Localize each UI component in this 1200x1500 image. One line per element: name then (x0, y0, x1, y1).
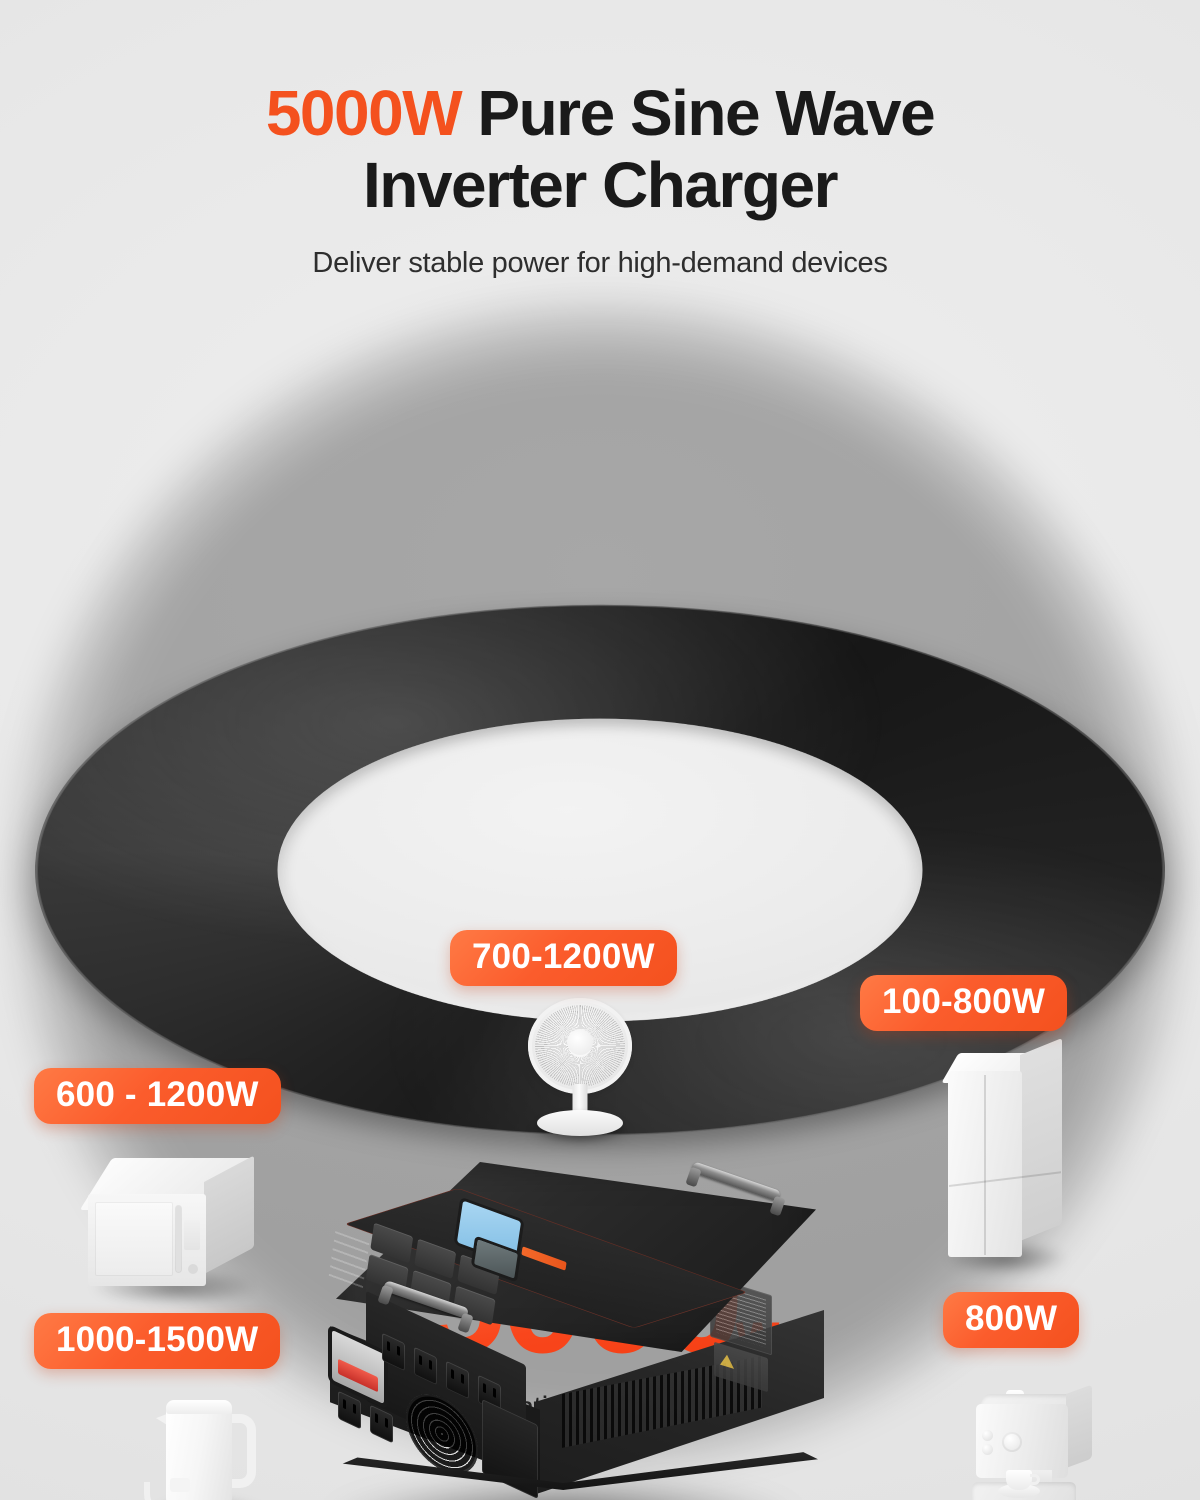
microwave-door (95, 1202, 173, 1276)
coffee-body (976, 1404, 1068, 1478)
badge-coffee-machine[interactable]: 800W (943, 1292, 1079, 1348)
appliance-pedestal-fan (520, 998, 640, 1138)
coffee-side-face (1066, 1385, 1092, 1468)
fan-base (537, 1110, 623, 1136)
page-title: 5000W Pure Sine Wave Inverter Charger (0, 78, 1200, 221)
coffee-knob-1 (982, 1430, 993, 1441)
badge-electric-kettle[interactable]: 1000-1500W (34, 1313, 280, 1369)
fan-hub (567, 1029, 593, 1055)
inverter-status-leds (329, 1231, 370, 1289)
appliance-coffee-machine (968, 1386, 1100, 1500)
microwave-door-handle (176, 1206, 181, 1272)
product-infographic: 5000W Pure Sine Wave Inverter Charger De… (0, 0, 1200, 1500)
handle-mount-right-a (685, 1167, 701, 1188)
appliance-electric-kettle (152, 1398, 264, 1500)
badge-refrigerator[interactable]: 100-800W (860, 975, 1067, 1031)
appliance-refrigerator (948, 1053, 1064, 1265)
kettle-plug (170, 1478, 190, 1492)
header: 5000W Pure Sine Wave Inverter Charger De… (0, 0, 1200, 280)
product-inverter-charger (310, 1160, 830, 1500)
product-stage: 700-1200W 100-800W 600 - 1200W 1000-1500… (0, 520, 1200, 1220)
appliance-microwave-oven (88, 1158, 260, 1298)
microwave-control-panel (184, 1220, 200, 1250)
kettle-lid (166, 1400, 232, 1414)
fridge-side-face (1020, 1038, 1062, 1241)
page-subtitle: Deliver stable power for high-demand dev… (0, 247, 1200, 280)
microwave-knob (188, 1264, 198, 1274)
coffee-knob-2 (982, 1444, 993, 1455)
coffee-cup (1006, 1470, 1032, 1490)
title-accent-wattage: 5000W (266, 77, 461, 149)
title-line-two: Inverter Charger (363, 149, 837, 221)
title-rest: Pure Sine Wave (461, 77, 934, 149)
badge-microwave-oven[interactable]: 600 - 1200W (34, 1068, 281, 1124)
coffee-pressure-gauge (1002, 1432, 1022, 1452)
badge-pedestal-fan[interactable]: 700-1200W (450, 930, 677, 986)
fridge-door-vertical-seam (984, 1075, 986, 1255)
warning-triangle-icon (720, 1353, 734, 1369)
